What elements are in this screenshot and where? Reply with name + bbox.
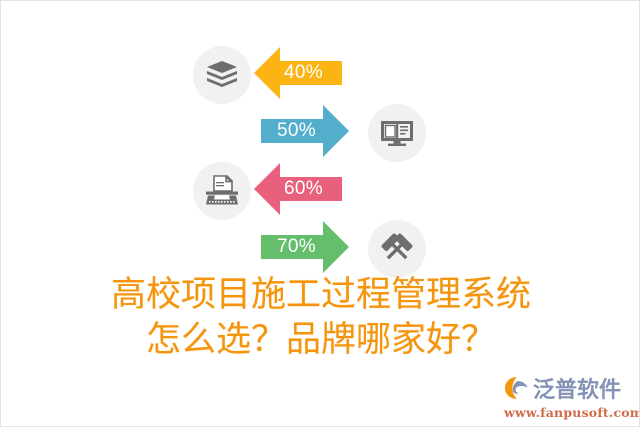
typewriter-icon (205, 175, 239, 207)
brand-logo[interactable]: 泛普软件 www.fanpusoft.com (504, 377, 634, 423)
arrow-shape-left-40 (254, 45, 342, 101)
page-title-line-1: 高校项目施工过程管理系统 (1, 273, 640, 318)
open-book-icon-bubble (368, 104, 426, 162)
brand-logo-top: 泛普软件 (504, 377, 634, 404)
brand-url: www.fanpusoft.com (504, 405, 634, 420)
hammers-icon (380, 233, 414, 265)
arrow-infographic: 40% (191, 41, 431, 281)
page-title: 高校项目施工过程管理系统 怎么选？品牌哪家好？ (1, 273, 640, 363)
hammers-icon-bubble (368, 220, 426, 278)
book-stack-icon (205, 60, 239, 90)
arrow-row-40: 40% (254, 45, 342, 101)
fanpu-swoosh-icon (504, 376, 530, 405)
arrow-shape-right-70 (261, 219, 349, 275)
arrow-shape-right-50 (261, 103, 349, 159)
page-title-line-2: 怎么选？品牌哪家好？ (1, 318, 640, 363)
arrow-row-50: 50% (261, 103, 349, 159)
brand-name: 泛普软件 (533, 378, 621, 404)
book-stack-icon-bubble (193, 46, 251, 104)
typewriter-icon-bubble (193, 162, 251, 220)
poster-canvas: 40% (0, 0, 640, 427)
open-book-icon (380, 118, 414, 148)
arrow-row-70: 70% (261, 219, 349, 275)
arrow-shape-left-60 (254, 161, 342, 217)
arrow-row-60: 60% (254, 161, 342, 217)
